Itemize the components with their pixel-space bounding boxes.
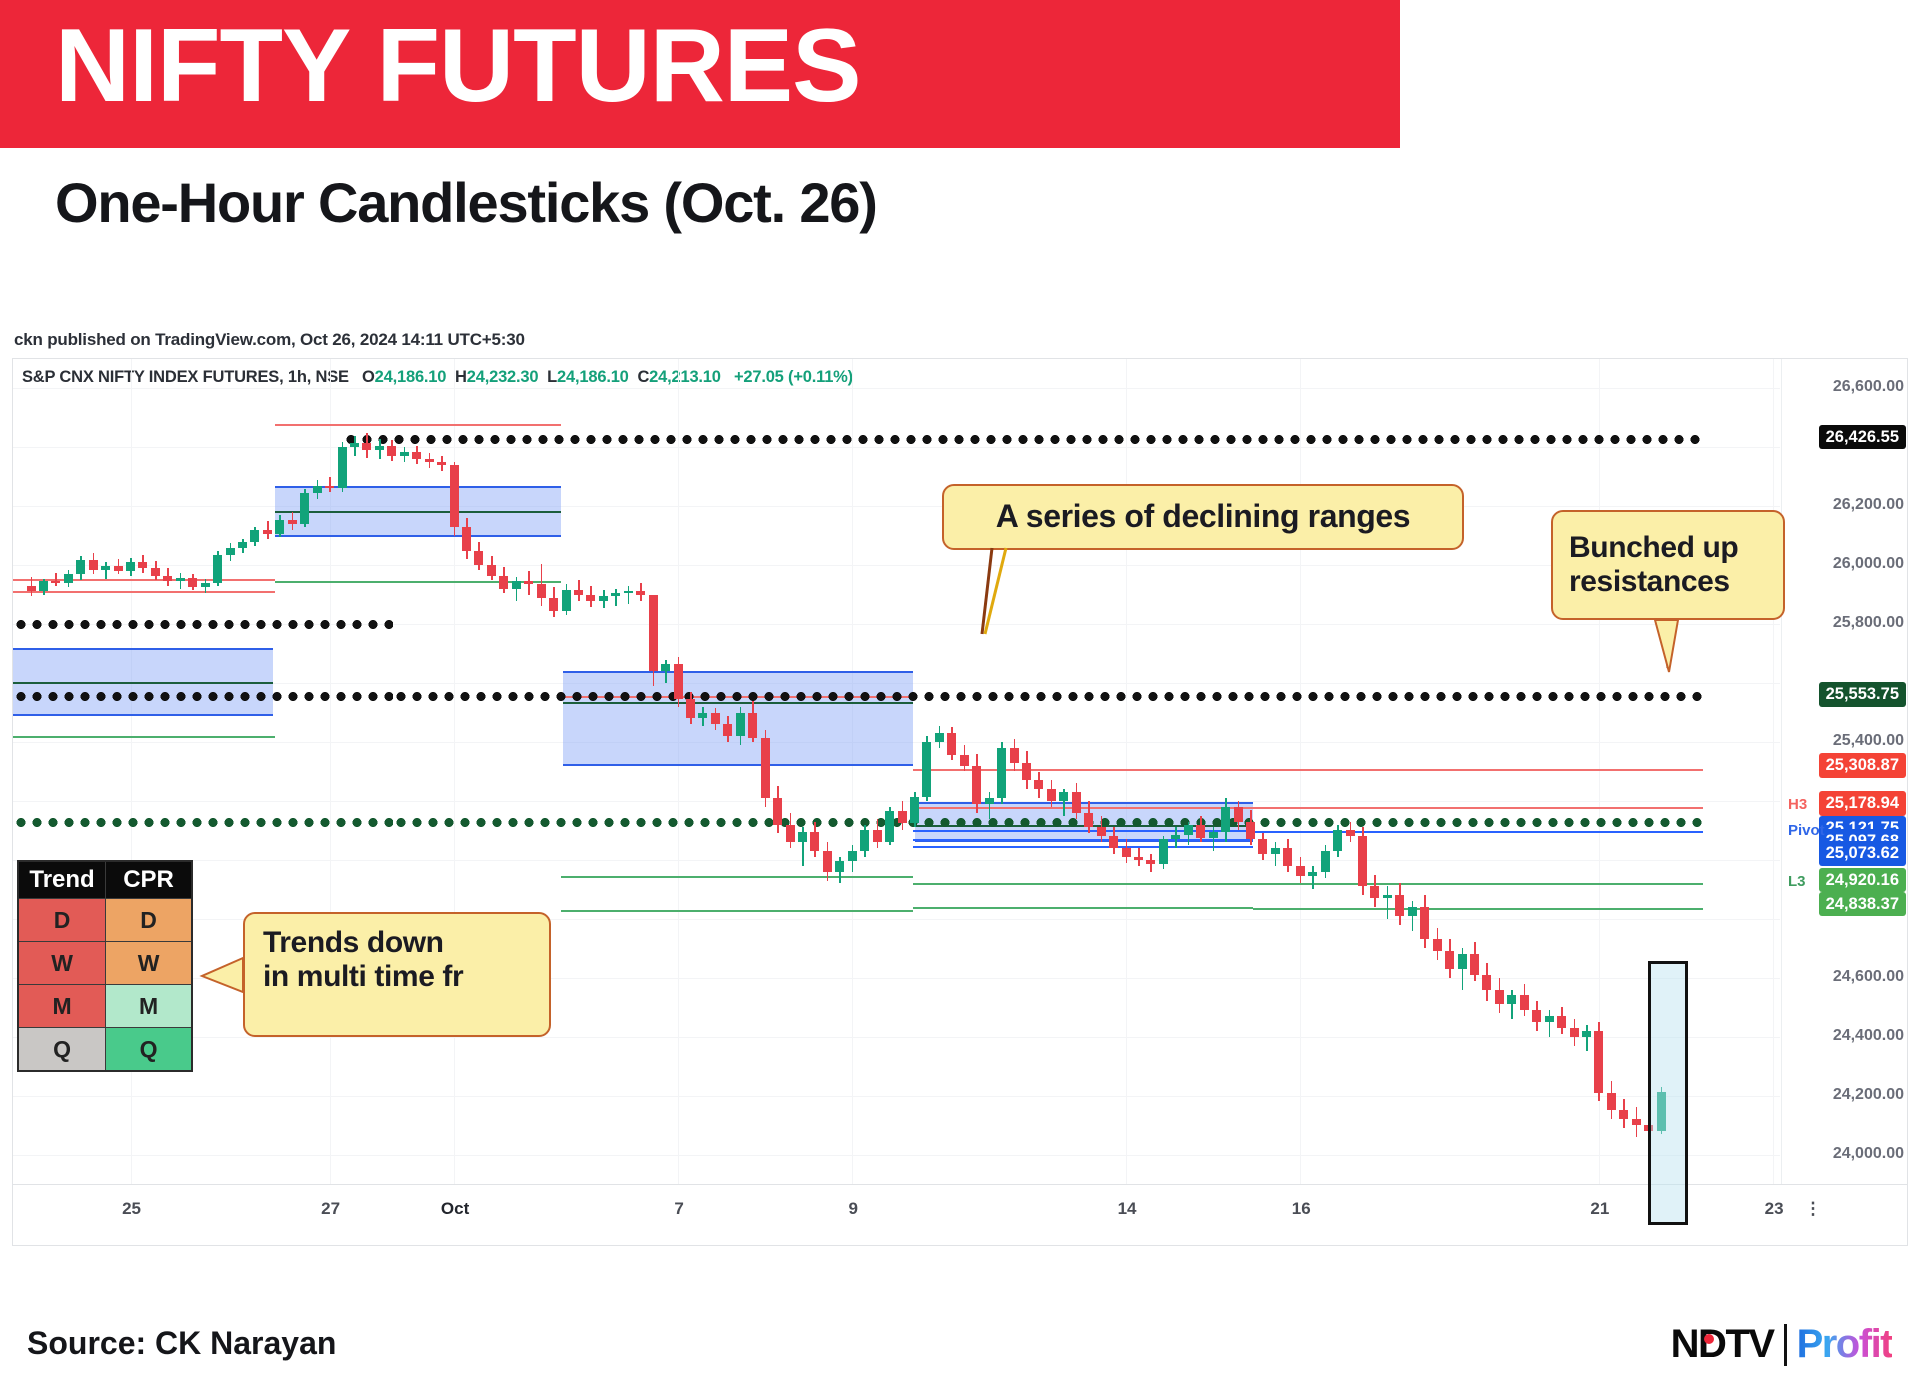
candle-body (76, 560, 85, 574)
candle-body (1196, 825, 1205, 838)
cpr-band-top-edge (13, 648, 273, 650)
candle-wick (615, 589, 617, 607)
cpr-band-bottom-edge (563, 764, 913, 766)
candle-body (325, 486, 334, 488)
gridline-horizontal (13, 565, 1780, 566)
gridline-vertical (852, 359, 853, 1184)
candle-body (1495, 990, 1504, 1005)
candle-body (64, 574, 73, 583)
candle-body (686, 699, 695, 718)
price-level-label: 24,920.16 (1819, 868, 1906, 892)
candle-body (1072, 792, 1081, 813)
candle-body (387, 446, 396, 456)
pivot-label-l3: L3 (1788, 873, 1806, 890)
candle-body (624, 591, 633, 593)
candle-wick (1312, 866, 1314, 890)
candle-body (1084, 813, 1093, 828)
support-resistance-line (913, 883, 1253, 885)
candle-body (176, 578, 185, 582)
candle-body (1545, 1016, 1554, 1022)
support-resistance-line (913, 807, 1253, 809)
candle-body (1346, 830, 1355, 836)
candle-body (412, 452, 421, 459)
candle-body (226, 548, 235, 555)
candle-body (1022, 763, 1031, 781)
dotted-level-line (393, 818, 1703, 827)
candle-body (786, 825, 795, 843)
candle-body (1271, 848, 1280, 854)
support-resistance-line (13, 591, 275, 593)
gridline-vertical (1300, 359, 1301, 1184)
candle-body (736, 713, 745, 737)
candle-body (462, 527, 471, 551)
ndtv-profit-logo: NDTV Profit (1671, 1322, 1892, 1367)
price-level-label: 26,426.55 (1819, 425, 1906, 449)
candle-body (1146, 860, 1155, 864)
cpr-cell-m: M (106, 985, 192, 1028)
candle-body (611, 593, 620, 596)
time-axis-more-icon: ⋮ (1805, 1199, 1822, 1219)
candle-body (400, 452, 409, 456)
support-resistance-line (913, 846, 1253, 848)
callout-bunched-resistances: Bunched up resistances (1551, 510, 1785, 620)
price-scale[interactable]: 26,600.0026,200.0026,000.0025,800.0025,4… (1781, 359, 1908, 1184)
time-axis-tick: 25 (122, 1199, 141, 1219)
candle-body (1097, 827, 1106, 836)
time-axis-tick: Oct (441, 1199, 469, 1219)
price-axis-tick: 26,000.00 (1833, 555, 1904, 573)
candle-body (1134, 857, 1143, 860)
time-axis-tick: 7 (674, 1199, 683, 1219)
candle-body (201, 583, 210, 587)
time-axis-tick: 14 (1118, 1199, 1137, 1219)
candle-body (39, 581, 48, 592)
candle-wick (989, 792, 991, 819)
candle-body (1619, 1110, 1628, 1119)
trend-cell-w: W (18, 942, 106, 985)
price-axis-tick: 25,400.00 (1833, 732, 1904, 750)
cpr-band-bottom-edge (275, 535, 561, 537)
callout-bunched-text: Bunched up resistances (1569, 531, 1783, 598)
candle-body (960, 755, 969, 765)
dotted-level-line (13, 818, 393, 827)
support-resistance-line (913, 839, 1253, 841)
gridline-horizontal (13, 388, 1780, 389)
candle-body (798, 832, 807, 842)
candle-body (1010, 748, 1019, 763)
candle-body (935, 733, 944, 742)
pivot-label-h3: H3 (1788, 796, 1807, 813)
cpr-cell-d: D (106, 899, 192, 942)
candle-body (338, 447, 347, 488)
candle-wick (1387, 886, 1389, 918)
gridline-horizontal (13, 1155, 1780, 1156)
cpr-band-center-line (275, 511, 561, 513)
candle-body (151, 568, 160, 576)
candle-body (263, 530, 272, 534)
support-resistance-line (561, 910, 913, 912)
candle-body (661, 664, 670, 671)
candle-body (1209, 832, 1218, 838)
candle-body (1246, 822, 1255, 840)
candle-body (499, 576, 508, 589)
candle-body (1358, 836, 1367, 886)
trend-cell-d: D (18, 899, 106, 942)
candle-body (51, 581, 60, 583)
candle-body (1184, 825, 1193, 835)
candle-body (922, 742, 931, 797)
candle-body (1445, 951, 1454, 969)
candle-body (375, 446, 384, 450)
price-axis-tick: 24,200.00 (1833, 1086, 1904, 1104)
candle-body (1171, 835, 1180, 839)
plot-area[interactable] (13, 359, 1780, 1184)
cpr-band-bottom-edge (13, 714, 273, 716)
candle-body (1333, 830, 1342, 851)
candle-wick (1586, 1025, 1588, 1052)
candle-body (89, 560, 98, 570)
support-resistance-line (1253, 807, 1703, 809)
candle-body (1122, 848, 1131, 857)
ndtv-wordmark: NDTV (1671, 1322, 1774, 1367)
candle-body (138, 562, 147, 568)
price-level-label: 24,838.37 (1819, 892, 1906, 916)
callout-trends-line1: Trends down (263, 926, 549, 960)
candle-body (1395, 895, 1404, 916)
time-axis-tick: 23 (1765, 1199, 1784, 1219)
candle-body (350, 443, 359, 447)
callout-trends-line2: in multi time fr (263, 960, 549, 994)
candle-body (425, 459, 434, 462)
ndtv-dot-icon (1704, 1334, 1714, 1344)
page-title: NIFTY FUTURES (55, 14, 861, 118)
cpr-cell-w: W (106, 942, 192, 985)
dotted-level-line (13, 692, 393, 701)
candle-body (848, 851, 857, 861)
time-axis-tick: 21 (1590, 1199, 1609, 1219)
candle-body (101, 566, 110, 570)
candle-body (1296, 866, 1305, 876)
trend-header: Trend (18, 861, 106, 899)
candle-body (1632, 1119, 1641, 1125)
candle-body (1594, 1031, 1603, 1093)
candle-body (1433, 939, 1442, 951)
candle-body (114, 566, 123, 571)
candle-body (126, 562, 135, 571)
trend-cpr-table: Trend CPR DDWWMMQQ (17, 860, 193, 1072)
price-axis-tick: 24,400.00 (1833, 1027, 1904, 1045)
candle-body (474, 551, 483, 566)
candle-body (1321, 851, 1330, 872)
cpr-band-top-edge (563, 671, 913, 673)
candle-body (885, 811, 894, 842)
trend-table-row: QQ (18, 1028, 192, 1072)
candle-body (810, 832, 819, 851)
candle-body (723, 724, 732, 736)
candle-body (1557, 1016, 1566, 1028)
price-axis-tick: 24,600.00 (1833, 968, 1904, 986)
chart-container: ckn published on TradingView.com, Oct 26… (0, 300, 1920, 1310)
candle-body (487, 565, 496, 575)
cpr-band-center-line (563, 702, 913, 704)
candle-body (163, 576, 172, 581)
candle-body (748, 713, 757, 738)
candle-body (250, 530, 259, 542)
logo-divider (1784, 1324, 1787, 1366)
price-axis-tick: 26,200.00 (1833, 496, 1904, 514)
candle-body (450, 465, 459, 527)
support-resistance-line (1253, 883, 1703, 885)
candle-body (1470, 954, 1479, 975)
candle-body (1520, 995, 1529, 1010)
price-level-label: 25,308.87 (1819, 753, 1906, 777)
candle-body (773, 798, 782, 825)
cpr-band-top-edge (915, 802, 1253, 804)
candle-wick (1275, 842, 1277, 866)
title-banner: NIFTY FUTURES (0, 0, 1400, 148)
candle-body (549, 598, 558, 611)
candle-body (910, 797, 919, 824)
time-axis-tick: 16 (1292, 1199, 1311, 1219)
trend-table-row: MM (18, 985, 192, 1028)
candle-body (1159, 839, 1168, 864)
candle-body (1234, 807, 1243, 822)
candle-wick (105, 562, 107, 578)
support-resistance-line (275, 424, 561, 426)
candle-body (1109, 836, 1118, 848)
candle-body (213, 555, 222, 583)
candle-body (362, 443, 371, 450)
candle-body (562, 590, 571, 611)
gridline-vertical (1773, 359, 1774, 1184)
trend-table-row: WW (18, 942, 192, 985)
dotted-level-line (393, 692, 1703, 701)
candle-body (972, 766, 981, 804)
candle-body (1370, 886, 1379, 898)
cpr-band-center-line (13, 682, 273, 684)
support-resistance-line (1253, 831, 1703, 833)
support-resistance-line (1253, 908, 1703, 910)
candle-body (1482, 975, 1491, 990)
time-axis-tick: 27 (321, 1199, 340, 1219)
candle-body (1607, 1093, 1616, 1111)
candle-wick (1511, 990, 1513, 1019)
price-level-label: 25,178.94 (1819, 791, 1906, 815)
candle-body (1059, 792, 1068, 801)
trend-cell-m: M (18, 985, 106, 1028)
page-subtitle: One-Hour Candlesticks (Oct. 26) (55, 170, 877, 235)
candle-body (1221, 807, 1230, 832)
dotted-level-line (13, 620, 393, 629)
gridline-vertical (1126, 359, 1127, 1184)
candle-body (574, 590, 583, 594)
candle-body (698, 713, 707, 719)
support-resistance-line (13, 736, 275, 738)
candle-body (238, 542, 247, 547)
candle-wick (1412, 901, 1414, 930)
candle-body (1507, 995, 1516, 1004)
support-resistance-line (561, 876, 913, 878)
candle-body (898, 811, 907, 823)
candle-body (860, 830, 869, 851)
dotted-level-line (343, 435, 1703, 444)
candle-body (1383, 895, 1392, 898)
candle-body (873, 830, 882, 842)
candle-body (300, 493, 309, 524)
price-level-label: 25,553.75 (1819, 682, 1906, 706)
candle-body (1532, 1010, 1541, 1022)
candle-body (275, 520, 284, 535)
candle-body (1047, 789, 1056, 801)
candle-wick (1549, 1010, 1551, 1037)
cpr-header: CPR (106, 861, 192, 899)
candle-body (1034, 780, 1043, 789)
candle-body (537, 584, 546, 597)
candle-body (1458, 954, 1467, 969)
candle-body (761, 738, 770, 798)
candle-body (947, 733, 956, 755)
candle-body (823, 851, 832, 872)
cpr-cell-q: Q (106, 1028, 192, 1072)
candle-body (586, 595, 595, 601)
price-axis-tick: 25,800.00 (1833, 614, 1904, 632)
gridline-vertical (678, 359, 679, 1184)
candle-body (1408, 907, 1417, 916)
candle-body (1420, 907, 1429, 939)
pivot-label-pivot: Pivot (1788, 822, 1825, 839)
candle-body (524, 581, 533, 584)
candle-body (1308, 872, 1317, 876)
profit-wordmark: Profit (1797, 1322, 1892, 1367)
candle-wick (329, 477, 331, 492)
candle-body (711, 713, 720, 725)
price-axis-tick: 26,600.00 (1833, 378, 1904, 396)
candle-wick (628, 586, 630, 604)
candle-body (674, 664, 683, 699)
support-resistance-line (1253, 769, 1703, 771)
candle-body (835, 861, 844, 871)
price-level-label: 25,073.62 (1819, 841, 1906, 865)
callout-trends-down: Trends down in multi time fr (243, 912, 551, 1037)
candle-body (997, 748, 1006, 798)
time-scale[interactable]: 2527Oct791416212328⋮ (13, 1184, 1907, 1246)
trend-table-row: DD (18, 899, 192, 942)
gridline-horizontal (13, 1096, 1780, 1097)
time-axis-tick: 9 (849, 1199, 858, 1219)
cpr-band (13, 648, 273, 716)
gridline-horizontal (13, 801, 1780, 802)
tradingview-credit: ckn published on TradingView.com, Oct 26… (14, 330, 525, 350)
candle-body (1283, 848, 1292, 866)
bunched-resistance-highlight-box (1648, 961, 1688, 1225)
candle-body (188, 578, 197, 588)
trend-table-body: DDWWMMQQ (18, 899, 192, 1072)
candle-body (1258, 839, 1267, 854)
candle-body (985, 798, 994, 804)
support-resistance-line (913, 907, 1253, 909)
price-axis-tick: 24,000.00 (1833, 1145, 1904, 1163)
callout-declining-ranges: A series of declining ranges (942, 484, 1464, 550)
candle-body (27, 586, 36, 591)
candle-body (313, 486, 322, 493)
candle-body (1582, 1031, 1591, 1037)
gridline-horizontal (13, 860, 1780, 861)
gridline-horizontal (13, 447, 1780, 448)
source-text: Source: CK Narayan (27, 1325, 336, 1362)
candle-body (1570, 1028, 1579, 1037)
candle-body (649, 595, 658, 672)
trend-cell-q: Q (18, 1028, 106, 1072)
candle-body (599, 596, 608, 600)
candle-body (512, 581, 521, 588)
candle-body (636, 591, 645, 595)
candle-body (437, 462, 446, 465)
candle-body (288, 520, 297, 524)
candle-wick (55, 573, 57, 586)
